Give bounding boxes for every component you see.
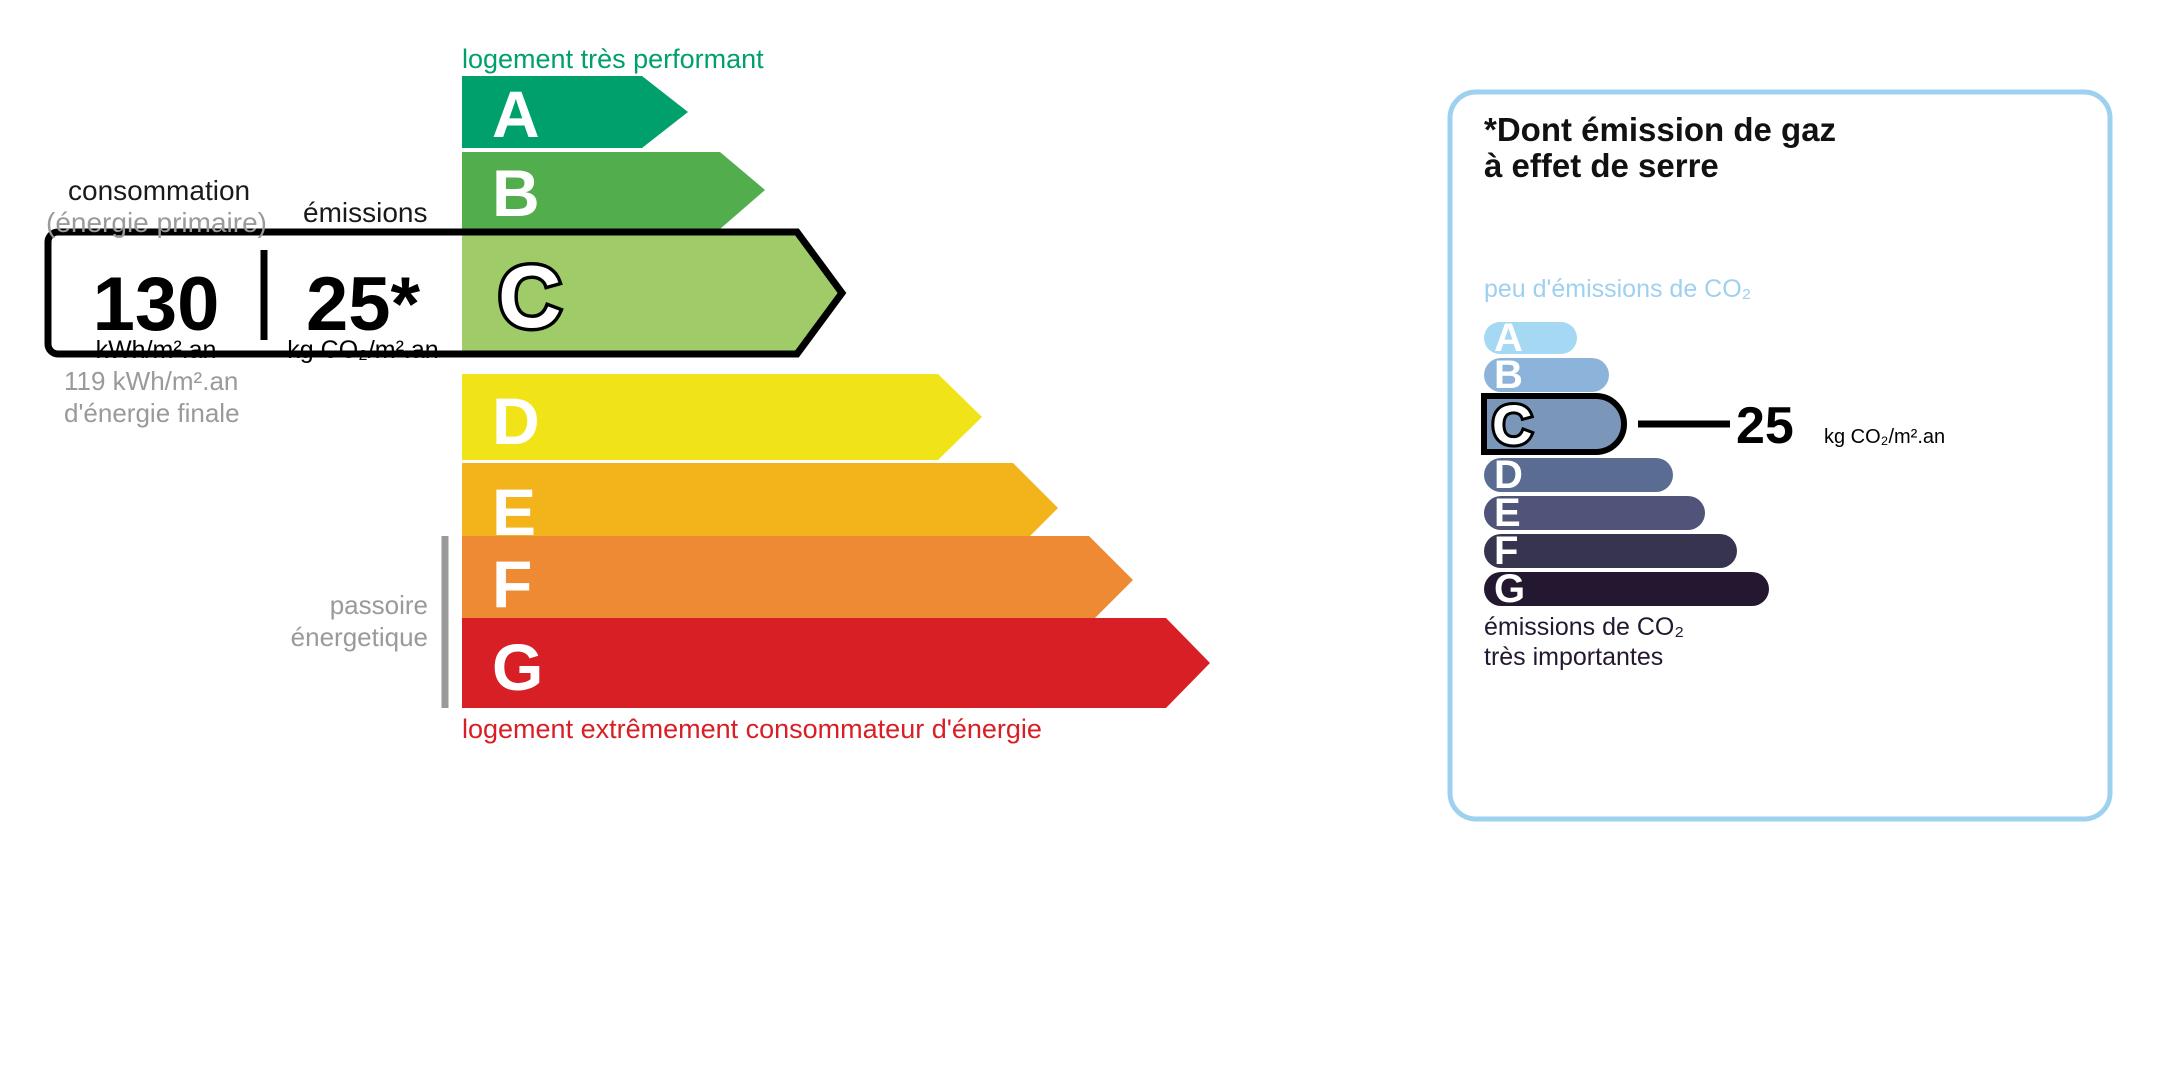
co2-bar-b: B	[1484, 353, 1609, 397]
co2-bar-c-letter: C	[1492, 393, 1532, 456]
co2-top-label: peu d'émissions de CO₂	[1484, 275, 1751, 303]
co2-bottom-label-line1: émissions de CO₂	[1484, 613, 1684, 641]
co2-bottom-label-line2: très importantes	[1484, 643, 1663, 671]
co2-bar-g: G	[1484, 567, 1769, 611]
co2-bar-b-letter: B	[1494, 353, 1523, 397]
co2-callout-unit: kg CO₂/m².an	[1824, 426, 1945, 448]
co2-callout-value: 25	[1736, 397, 1794, 455]
co2-panel-title-line2: à effet de serre	[1484, 147, 1719, 184]
co2-bar-g-shape	[1484, 572, 1769, 606]
co2-bar-g-letter: G	[1494, 567, 1525, 611]
co2-panel-title-line1: *Dont émission de gaz	[1484, 111, 1836, 148]
co2-panel-border	[1450, 92, 2110, 819]
co2-panel-svg: *Dont émission de gaz à effet de serre p…	[0, 0, 2169, 1079]
dpe-energy-label: logement très performant A B C D	[0, 0, 2169, 1079]
co2-bar-f-shape	[1484, 534, 1737, 568]
